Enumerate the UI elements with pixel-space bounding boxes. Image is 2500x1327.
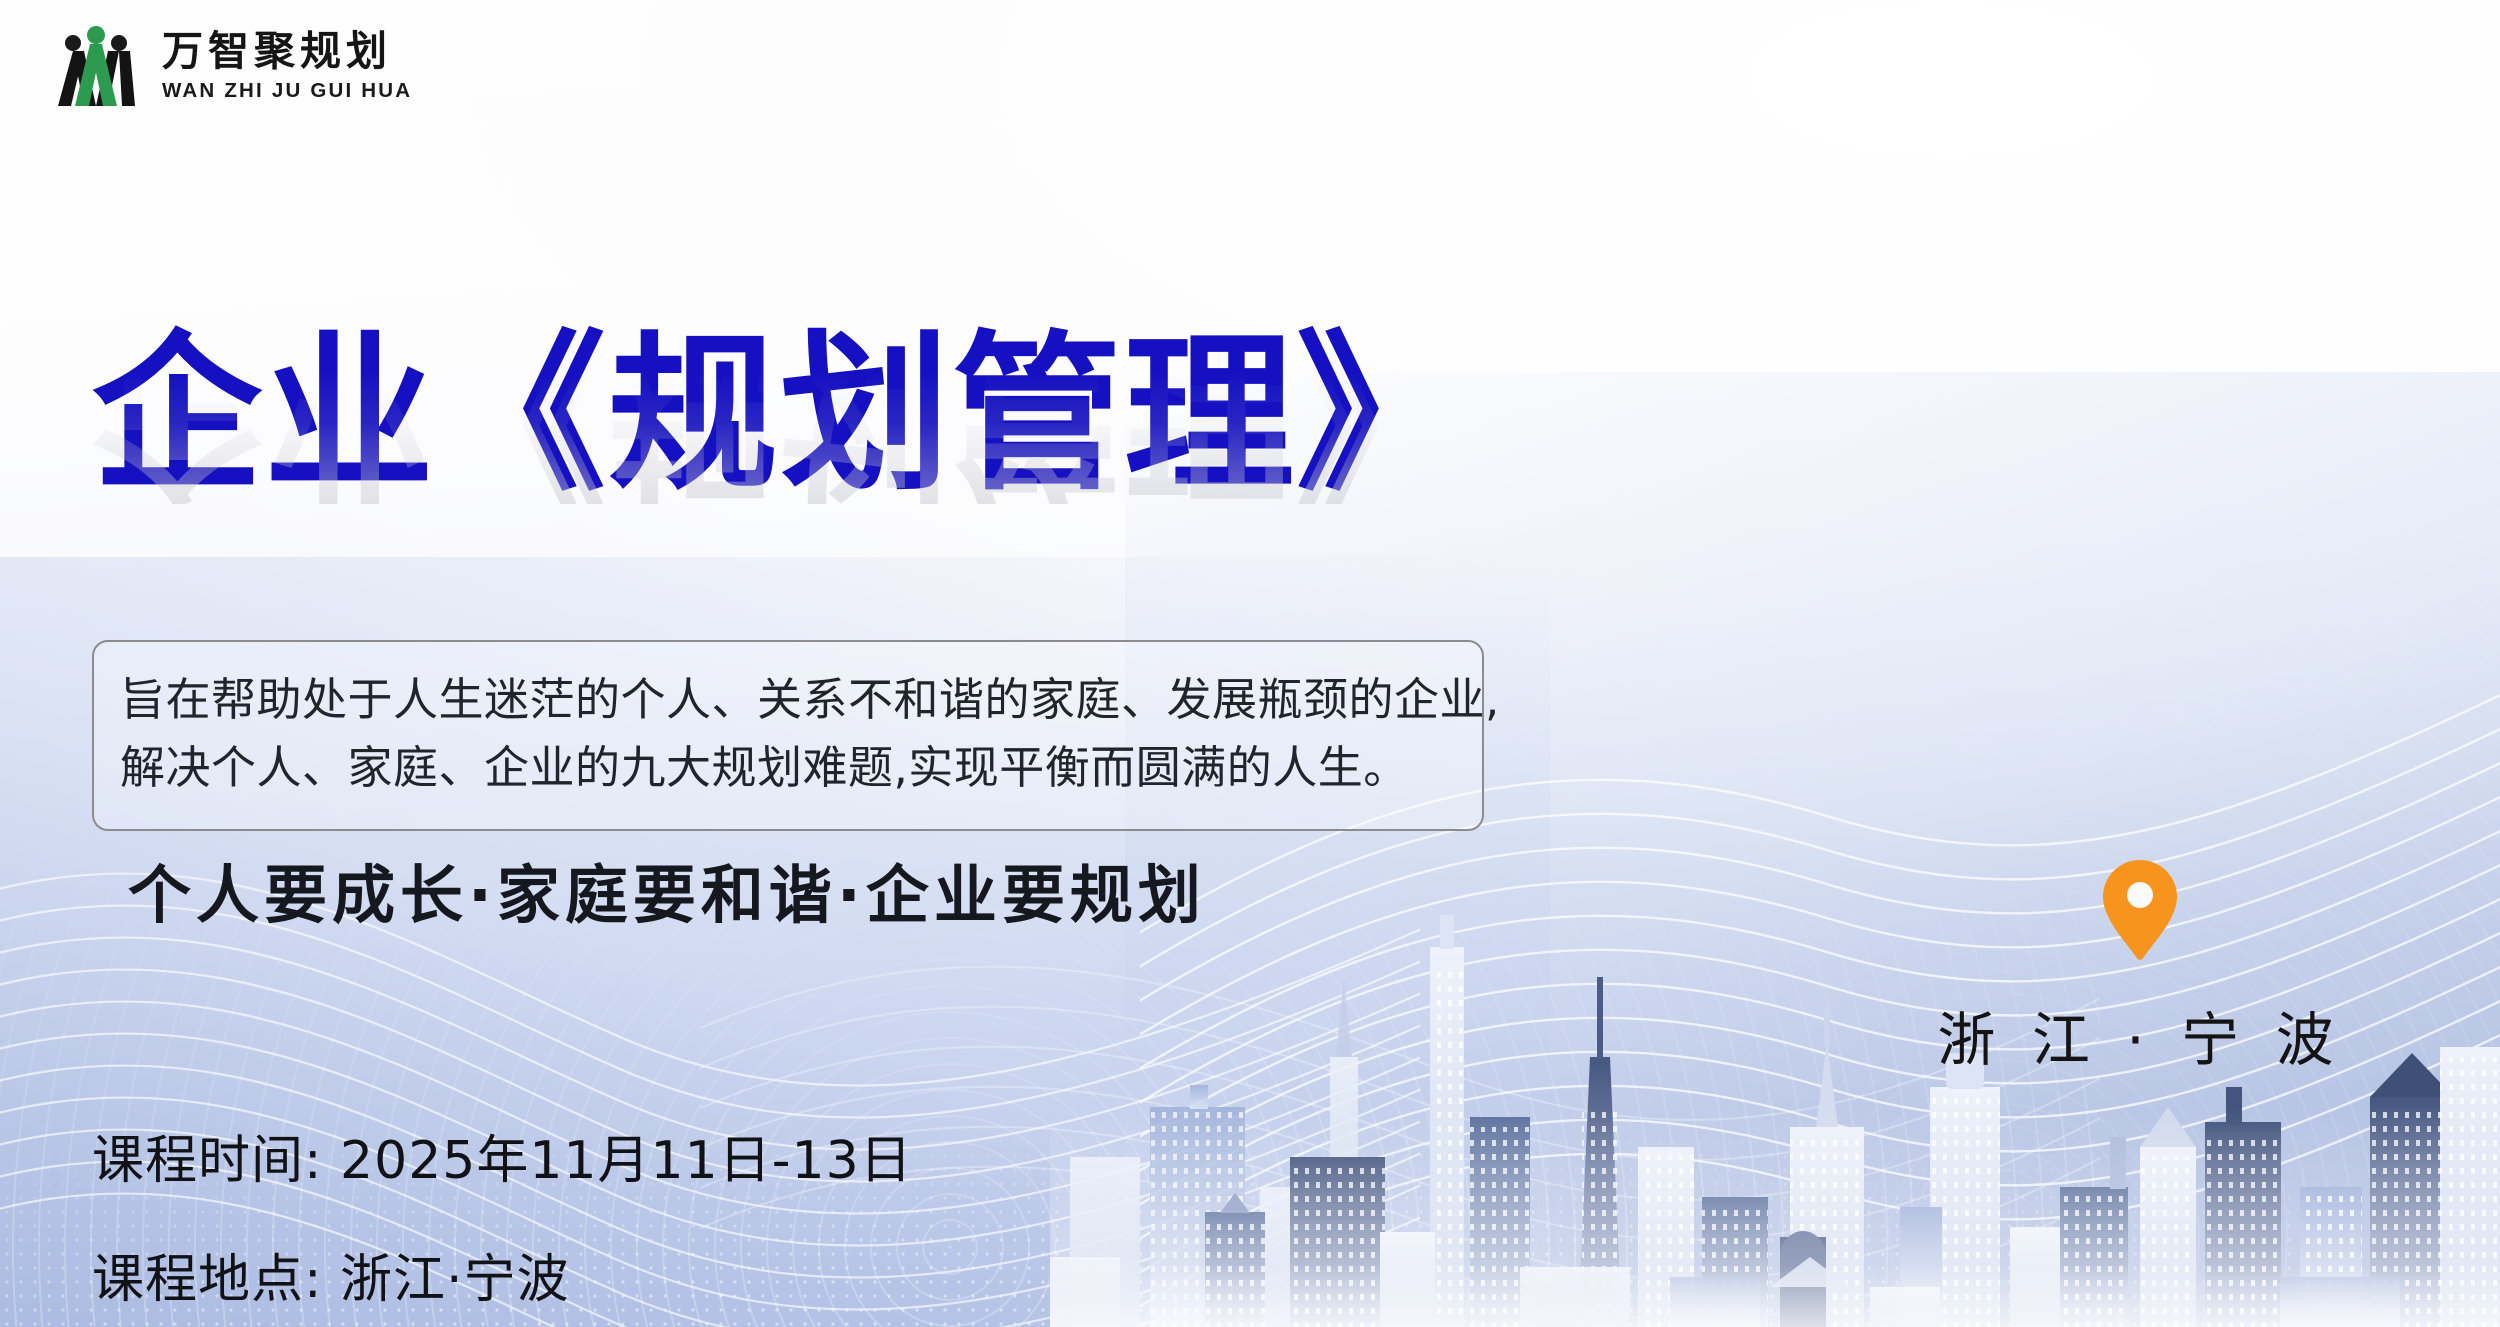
three-people-m-logo-icon (48, 22, 144, 110)
hero-title-block: 企业《规划管理》 企业《规划管理》 (92, 330, 1692, 674)
description-box: 旨在帮助处于人生迷茫的个人、关系不和谐的家庭、发展瓶颈的企业, 解决个人、家庭、… (92, 640, 1484, 831)
poster-canvas: 万智聚规划 WAN ZHI JU GUI HUA 企业《规划管理》 企业《规划管… (0, 0, 2500, 1327)
tagline: 个人要成长·家庭要和谐·企业要规划 (128, 845, 1206, 936)
course-time: 课程时间: 2025年11月11日-13日 (92, 1118, 913, 1193)
location-label: 浙 江 · 宁 波 (1930, 993, 2350, 1077)
description-line-1: 旨在帮助处于人生迷茫的个人、关系不和谐的家庭、发展瓶颈的企业, (120, 666, 1456, 734)
brand-name-cn: 万智聚规划 (162, 31, 412, 72)
brand-logo[interactable]: 万智聚规划 WAN ZHI JU GUI HUA (48, 22, 412, 110)
course-place: 课程地点: 浙江·宁波 (92, 1237, 913, 1312)
location-badge: 浙 江 · 宁 波 (1930, 858, 2350, 1077)
brand-name-en: WAN ZHI JU GUI HUA (162, 81, 412, 102)
map-pin-icon (2100, 858, 2180, 962)
page-title-reflection: 企业《规划管理》 (92, 334, 1692, 504)
description-line-2: 解决个人、家庭、企业的九大规划难题,实现平衡而圆满的人生。 (120, 734, 1456, 802)
course-info: 课程时间: 2025年11月11日-13日 课程地点: 浙江·宁波 (92, 1118, 913, 1312)
